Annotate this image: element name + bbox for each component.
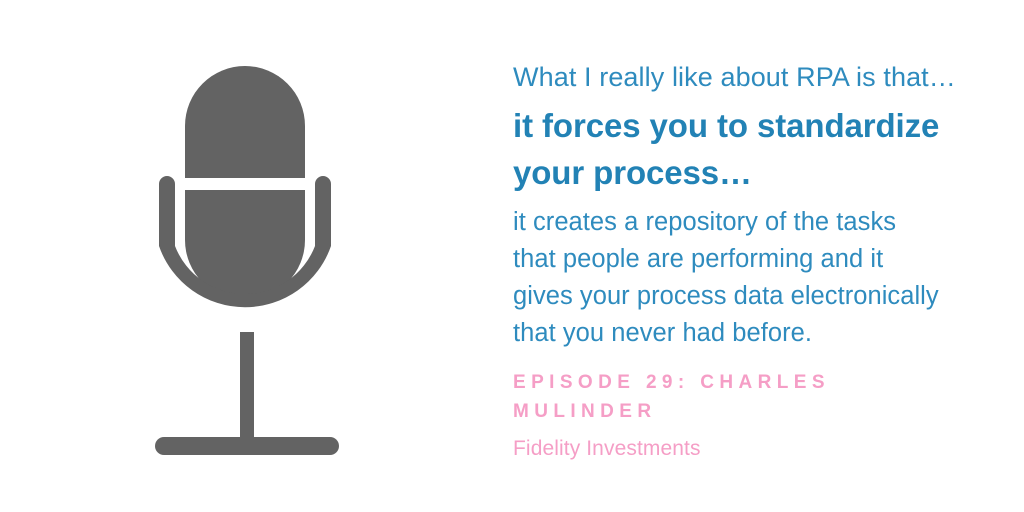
quote-body-line-2: that people are performing and it <box>513 241 1013 278</box>
quote-card: What I really like about RPA is that… it… <box>0 0 1024 512</box>
quote-body-line-4: that you never had before. <box>513 315 1013 352</box>
quote-emphasis-line-1: it forces you to standardize <box>513 102 1013 149</box>
guest-company: Fidelity Investments <box>513 435 1013 463</box>
mic-capsule-top <box>185 66 305 178</box>
quote-body-line-1: it creates a repository of the tasks <box>513 204 1013 241</box>
mic-stem <box>240 332 254 444</box>
quote-emphasis-line-2: your process… <box>513 149 1013 196</box>
quote-body: it creates a repository of the tasks tha… <box>513 204 1013 352</box>
microphone-illustration <box>140 50 360 470</box>
microphone-icon <box>140 50 360 470</box>
episode-title: EPISODE 29: CHARLES MULINDER <box>513 368 903 426</box>
quote-body-line-3: gives your process data electronically <box>513 278 1013 315</box>
quote-lead-in: What I really like about RPA is that… <box>513 58 1013 96</box>
quote-text-column: What I really like about RPA is that… it… <box>513 58 1013 463</box>
quote-emphasis: it forces you to standardize your proces… <box>513 102 1013 196</box>
mic-base-bar <box>155 437 339 455</box>
